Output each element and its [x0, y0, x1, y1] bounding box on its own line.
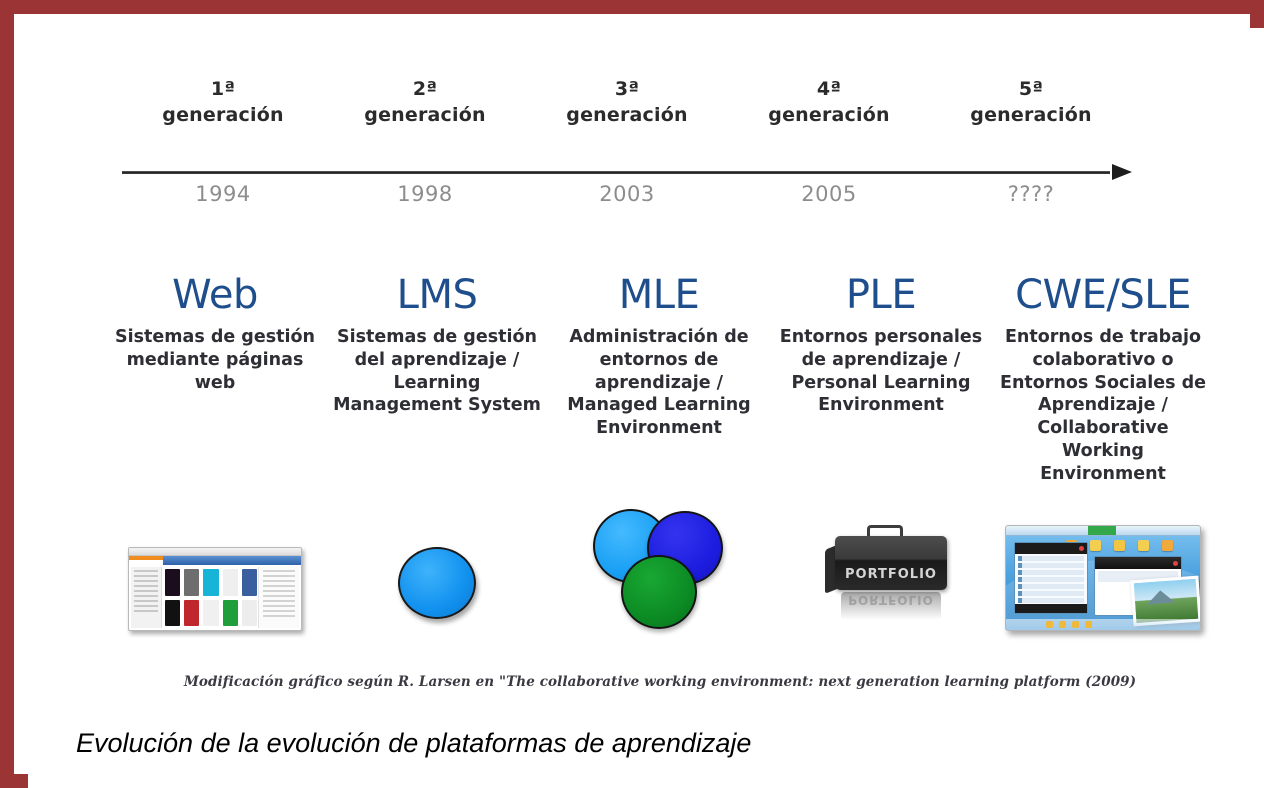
column-web: Web Sistemas de gestión mediante páginas…	[104, 264, 326, 684]
generation-ordinal-4: 4ª	[728, 76, 930, 102]
column-artwork-web	[104, 506, 326, 631]
source-caption: Modificación gráfico según R. Larsen en …	[42, 674, 1264, 690]
browser-chrome-bar	[129, 548, 301, 556]
browser-nav-bar	[163, 556, 301, 565]
column-title-lms: LMS	[397, 264, 478, 326]
column-title-mle: MLE	[619, 264, 700, 326]
column-description-cwe-sle: Entornos de trabajo colaborativo o Entor…	[999, 326, 1208, 506]
generation-ordinal-5: 5ª	[930, 76, 1132, 102]
column-title-cwe-sle: CWE/SLE	[1015, 264, 1191, 326]
generation-ordinal-2: 2ª	[324, 76, 526, 102]
generation-word-4: generación	[728, 102, 930, 128]
desktop-taskbar	[1006, 619, 1200, 630]
column-artwork-ple: PORTFOLIO PORTFOLIO	[770, 506, 992, 631]
three-circles-icon	[593, 509, 725, 627]
year-label-2: 1998	[324, 182, 526, 206]
generation-word-2: generación	[324, 102, 526, 128]
column-artwork-lms	[326, 506, 548, 631]
decorative-frame: 1ª generación 2ª generación 3ª generació…	[0, 0, 1264, 788]
browser-screenshot-icon	[128, 547, 302, 631]
evolution-diagram: 1ª generación 2ª generación 3ª generació…	[42, 42, 1264, 706]
browser-left-panel	[131, 567, 162, 628]
year-label-1: 1994	[122, 182, 324, 206]
browser-content-grid	[165, 569, 257, 626]
generation-word-1: generación	[122, 102, 324, 128]
column-lms: LMS Sistemas de gestión del aprendizaje …	[326, 264, 548, 684]
column-description-web: Sistemas de gestión mediante páginas web	[111, 326, 320, 506]
year-label-3: 2003	[526, 182, 728, 206]
column-description-ple: Entornos personales de aprendizaje / Per…	[777, 326, 986, 506]
browser-accent-bar	[129, 556, 163, 560]
slide-title: Evolución de la evolución de plataformas…	[76, 728, 751, 759]
column-description-lms: Sistemas de gestión del aprendizaje / Le…	[333, 326, 542, 506]
arrow-head-icon	[1112, 164, 1132, 180]
browser-right-panel	[258, 567, 299, 628]
column-ple: PLE Entornos personales de aprendizaje /…	[770, 264, 992, 684]
column-title-web: Web	[172, 264, 258, 326]
generation-label-1: 1ª generación	[122, 76, 324, 164]
column-mle: MLE Administración de entornos de aprend…	[548, 264, 770, 684]
generation-labels-row: 1ª generación 2ª generación 3ª generació…	[122, 76, 1132, 164]
generation-label-5: 5ª generación	[930, 76, 1132, 164]
briefcase-label: PORTFOLIO	[835, 567, 947, 582]
timeline-axis-line	[122, 171, 1110, 174]
year-label-5: ????	[930, 182, 1132, 206]
generation-label-3: 3ª generación	[526, 76, 728, 164]
desktop-window-left	[1014, 542, 1088, 614]
year-label-4: 2005	[728, 182, 930, 206]
generation-label-4: 4ª generación	[728, 76, 930, 164]
desktop-environment-screenshot-icon	[1005, 525, 1201, 631]
column-title-ple: PLE	[846, 264, 916, 326]
portfolio-briefcase-icon: PORTFOLIO PORTFOLIO	[809, 519, 953, 631]
generation-word-3: generación	[526, 102, 728, 128]
column-artwork-mle	[548, 506, 770, 631]
generation-label-2: 2ª generación	[324, 76, 526, 164]
generation-ordinal-3: 3ª	[526, 76, 728, 102]
circle-green	[621, 555, 697, 629]
generation-word-5: generación	[930, 102, 1132, 128]
timeline-arrow	[122, 168, 1132, 178]
column-artwork-cwe-sle	[992, 506, 1214, 631]
generation-columns: Web Sistemas de gestión mediante páginas…	[104, 264, 1214, 684]
column-description-mle: Administración de entornos de aprendizaj…	[555, 326, 764, 506]
year-labels-row: 1994 1998 2003 2005 ????	[122, 182, 1132, 206]
slide-canvas: 1ª generación 2ª generación 3ª generació…	[28, 28, 1264, 788]
timeline: 1ª generación 2ª generación 3ª generació…	[122, 76, 1132, 216]
column-cwe-sle: CWE/SLE Entornos de trabajo colaborativo…	[992, 264, 1214, 684]
desktop-panel-highlight	[1088, 526, 1116, 535]
generation-ordinal-1: 1ª	[122, 76, 324, 102]
blue-circle-icon	[398, 547, 476, 619]
briefcase-reflection-label: PORTFOLIO	[835, 593, 947, 607]
